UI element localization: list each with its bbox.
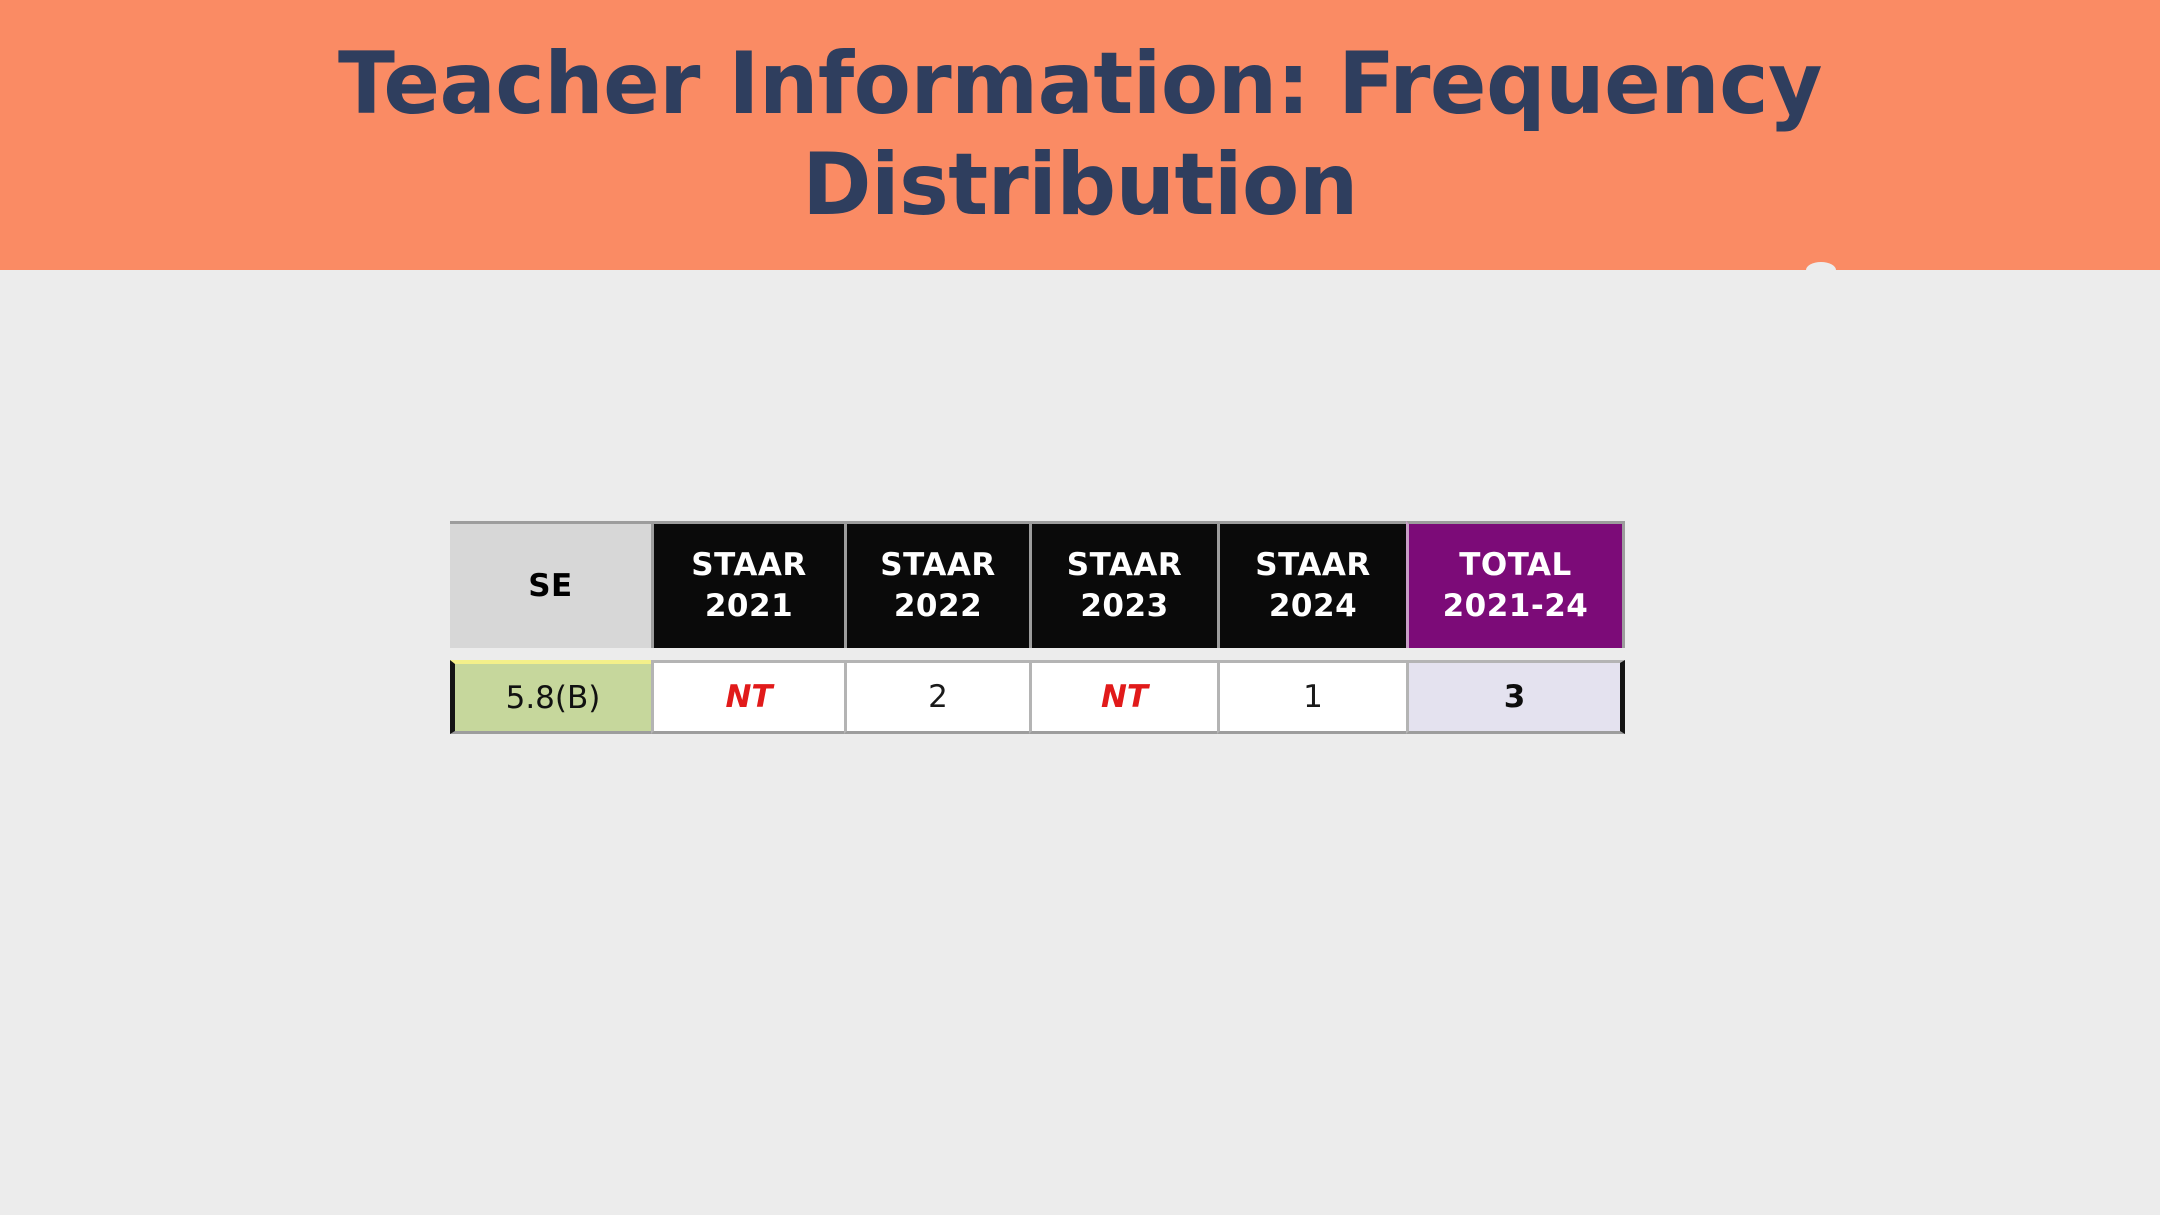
column-header-staar-2021-line1: STAAR [654, 545, 844, 586]
cell-staar-2023: NT [1029, 660, 1217, 734]
column-header-staar-2022: STAAR 2022 [844, 521, 1029, 648]
table-gap-row [450, 648, 1625, 660]
column-header-staar-2022-line1: STAAR [847, 545, 1029, 586]
column-header-staar-2022-line2: 2022 [847, 586, 1029, 627]
table-header-row: SE STAAR 2021 STAAR 2022 STAAR 2023 STAA… [450, 521, 1625, 648]
table-row: 5.8(B) NT 2 NT 1 3 [450, 660, 1625, 734]
gap-cell [1406, 648, 1625, 660]
column-header-staar-2023-line2: 2023 [1032, 586, 1217, 627]
title-banner: Teacher Information: Frequency Distribut… [0, 0, 2160, 270]
cell-staar-2021: NT [651, 660, 844, 734]
column-header-staar-2021-line2: 2021 [654, 586, 844, 627]
column-header-staar-2024-line1: STAAR [1220, 545, 1406, 586]
column-header-total: TOTAL 2021-24 [1406, 521, 1625, 648]
banner-notch-artifact [1806, 262, 1836, 278]
gap-cell [844, 648, 1029, 660]
gap-cell [1029, 648, 1217, 660]
column-header-staar-2023-line1: STAAR [1032, 545, 1217, 586]
gap-cell [450, 648, 651, 660]
column-header-staar-2021: STAAR 2021 [651, 521, 844, 648]
cell-staar-2024: 1 [1217, 660, 1406, 734]
gap-cell [651, 648, 844, 660]
column-header-staar-2024: STAAR 2024 [1217, 521, 1406, 648]
cell-total: 3 [1406, 660, 1625, 734]
column-header-total-line1: TOTAL [1459, 547, 1571, 583]
cell-se-code: 5.8(B) [450, 660, 651, 734]
column-header-se-label: SE [528, 568, 573, 604]
column-header-total-line2: 2021-24 [1443, 588, 1589, 624]
frequency-distribution-table: SE STAAR 2021 STAAR 2022 STAAR 2023 STAA… [450, 521, 1625, 734]
column-header-staar-2023: STAAR 2023 [1029, 521, 1217, 648]
gap-cell [1217, 648, 1406, 660]
column-header-staar-2024-line2: 2024 [1220, 586, 1406, 627]
column-header-se: SE [450, 521, 651, 648]
cell-staar-2022: 2 [844, 660, 1029, 734]
page-title: Teacher Information: Frequency Distribut… [323, 34, 1836, 237]
